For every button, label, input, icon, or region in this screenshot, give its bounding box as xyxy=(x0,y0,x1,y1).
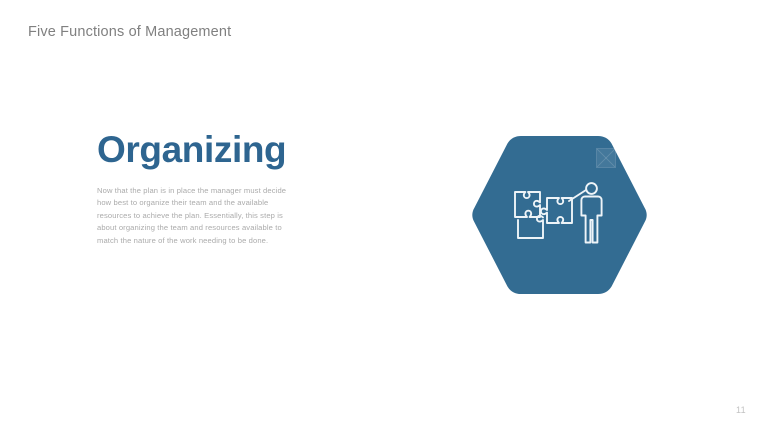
person-head xyxy=(586,183,597,194)
page-number: 11 xyxy=(736,405,746,415)
puzzle-piece-lower-left xyxy=(518,216,543,238)
hexagon-graphic xyxy=(468,132,651,306)
section-body-paragraph: Now that the plan is in place the manage… xyxy=(97,172,289,247)
person-arm xyxy=(569,190,586,201)
text-content-column: Organizing Now that the plan is in place… xyxy=(97,128,312,247)
puzzle-piece-held xyxy=(541,198,572,223)
resize-handle-marker xyxy=(596,148,616,168)
puzzle-person-glyph xyxy=(512,182,604,254)
person-body xyxy=(581,197,601,243)
puzzle-piece-upper-left xyxy=(515,192,540,217)
slide-header-title: Five Functions of Management xyxy=(28,24,231,40)
puzzle-pieces-person-icon xyxy=(512,182,604,254)
section-title: Organizing xyxy=(97,128,312,172)
slide-canvas: Five Functions of Management Organizing … xyxy=(0,0,768,432)
resize-handle-diagonals-icon xyxy=(597,149,615,167)
